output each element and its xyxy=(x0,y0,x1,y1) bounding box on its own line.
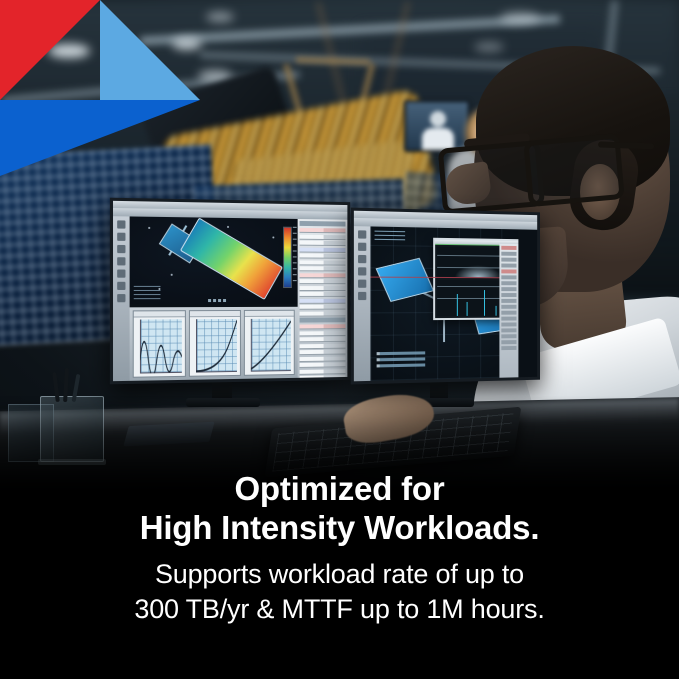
monitor-base-left xyxy=(186,398,260,407)
satellite-assembly-3d-viewport[interactable] xyxy=(370,226,518,380)
table-row[interactable] xyxy=(300,298,346,303)
left-monitor-screen[interactable] xyxy=(113,201,347,381)
table-header xyxy=(300,317,346,322)
rail-tool-icon[interactable] xyxy=(117,294,125,302)
property-row[interactable] xyxy=(501,275,516,279)
property-row[interactable] xyxy=(501,311,516,315)
viewport-legend xyxy=(377,351,426,372)
table-header xyxy=(300,221,346,227)
table-row[interactable] xyxy=(300,234,346,239)
logo-light-blue-triangle-icon xyxy=(100,0,200,100)
table-row[interactable] xyxy=(300,362,346,368)
rail-tool-icon[interactable] xyxy=(358,280,366,288)
property-row[interactable] xyxy=(501,252,516,256)
property-row[interactable] xyxy=(501,293,516,297)
table-row[interactable] xyxy=(300,286,346,291)
property-row[interactable] xyxy=(501,269,516,273)
app-tool-rail[interactable] xyxy=(354,226,371,381)
logo-dark-blue-triangle-icon xyxy=(0,100,200,176)
graph-panel-3[interactable] xyxy=(244,310,295,376)
numeric-results-table[interactable] xyxy=(298,219,348,378)
legend-item xyxy=(377,363,426,367)
table-row[interactable] xyxy=(300,311,346,316)
waveform-spike xyxy=(457,294,458,316)
rail-tool-icon[interactable] xyxy=(358,255,366,263)
rail-tool-icon[interactable] xyxy=(358,230,366,238)
headline-line-2: High Intensity Workloads. xyxy=(140,509,540,548)
property-row[interactable] xyxy=(501,328,516,332)
pen-holder xyxy=(40,396,104,462)
ceiling-light xyxy=(500,12,540,24)
legend-item xyxy=(377,351,426,355)
table-row[interactable] xyxy=(300,254,346,259)
property-row[interactable] xyxy=(501,322,516,326)
property-row[interactable] xyxy=(501,246,516,250)
table-row[interactable] xyxy=(300,331,346,336)
graph-panel-2[interactable] xyxy=(189,310,241,377)
model-thermal-gradient-body xyxy=(180,218,283,300)
graph-title-2 xyxy=(190,311,240,317)
rail-tool-icon[interactable] xyxy=(117,257,125,265)
table-row[interactable] xyxy=(300,350,346,355)
headline-line-1: Optimized for xyxy=(234,470,444,507)
right-monitor xyxy=(351,208,540,385)
rail-tool-icon[interactable] xyxy=(358,243,366,251)
rail-tool-icon[interactable] xyxy=(358,267,366,275)
table-row[interactable] xyxy=(300,324,346,329)
thermal-colorbar xyxy=(283,227,292,288)
waveform-spike xyxy=(496,306,497,316)
rail-tool-icon[interactable] xyxy=(117,233,125,241)
waveform-spike xyxy=(467,302,468,316)
headline: Optimized for High Intensity Workloads. xyxy=(140,470,540,547)
table-row[interactable] xyxy=(300,260,346,265)
table-row[interactable] xyxy=(300,266,346,271)
graph-title-1 xyxy=(134,311,185,317)
marketing-copy: Optimized for High Intensity Workloads. … xyxy=(0,470,679,679)
colorbar-ticks xyxy=(293,227,297,286)
table-row[interactable] xyxy=(300,228,346,233)
property-row[interactable] xyxy=(501,340,516,344)
table-row[interactable] xyxy=(300,375,346,381)
property-row[interactable] xyxy=(501,287,516,291)
logo-red-triangle-icon xyxy=(0,0,100,100)
table-row[interactable] xyxy=(300,241,346,246)
legend-item xyxy=(377,357,426,361)
star xyxy=(272,236,274,238)
property-row[interactable] xyxy=(501,305,516,309)
rail-tool-icon[interactable] xyxy=(117,270,125,278)
table-row[interactable] xyxy=(300,343,346,348)
graph-curve-damped-oscillation xyxy=(140,319,182,373)
rail-tool-icon[interactable] xyxy=(358,292,366,300)
table-row[interactable] xyxy=(300,305,346,310)
rail-tool-icon[interactable] xyxy=(117,220,125,228)
table-row[interactable] xyxy=(300,247,346,252)
table-row[interactable] xyxy=(300,273,346,278)
star xyxy=(171,274,173,276)
property-row[interactable] xyxy=(501,334,516,338)
app-tool-rail[interactable] xyxy=(113,216,130,381)
property-row[interactable] xyxy=(501,264,516,268)
left-monitor xyxy=(110,198,350,385)
subheadline: Supports workload rate of up to 300 TB/y… xyxy=(134,557,544,627)
subheadline-line-2: 300 TB/yr & MTTF up to 1M hours. xyxy=(134,592,544,627)
viewport-axis-label xyxy=(208,299,226,302)
table-row[interactable] xyxy=(300,279,346,284)
table-row[interactable] xyxy=(300,356,346,362)
ceiling-light xyxy=(206,12,234,22)
property-row[interactable] xyxy=(501,281,516,285)
rail-tool-icon[interactable] xyxy=(117,282,125,290)
viewport-hud-text xyxy=(375,231,406,244)
waveform-spike xyxy=(484,290,485,316)
property-row[interactable] xyxy=(501,317,516,321)
right-monitor-screen[interactable] xyxy=(354,211,537,382)
satellite-thermal-model-viewport[interactable] xyxy=(130,216,298,304)
app-properties-panel[interactable] xyxy=(499,244,518,378)
graph-curve-linear-ramp xyxy=(251,319,291,372)
graph-curve-exponential xyxy=(196,319,237,373)
property-row[interactable] xyxy=(501,258,516,262)
star xyxy=(148,227,150,229)
table-row[interactable] xyxy=(300,369,346,375)
table-row[interactable] xyxy=(300,337,346,342)
product-marketing-image: Optimized for High Intensity Workloads. … xyxy=(0,0,679,679)
brand-logo xyxy=(0,0,200,176)
table-row[interactable] xyxy=(300,292,346,297)
subheadline-line-1: Supports workload rate of up to xyxy=(155,559,524,589)
star xyxy=(227,226,229,228)
viewport-hud-text xyxy=(134,286,161,300)
graph-panel-row xyxy=(130,307,298,381)
property-row[interactable] xyxy=(501,346,516,350)
graph-panel-1[interactable] xyxy=(133,310,186,378)
rail-tool-icon[interactable] xyxy=(117,245,125,253)
property-row[interactable] xyxy=(501,299,516,303)
graph-title-3 xyxy=(245,311,294,317)
